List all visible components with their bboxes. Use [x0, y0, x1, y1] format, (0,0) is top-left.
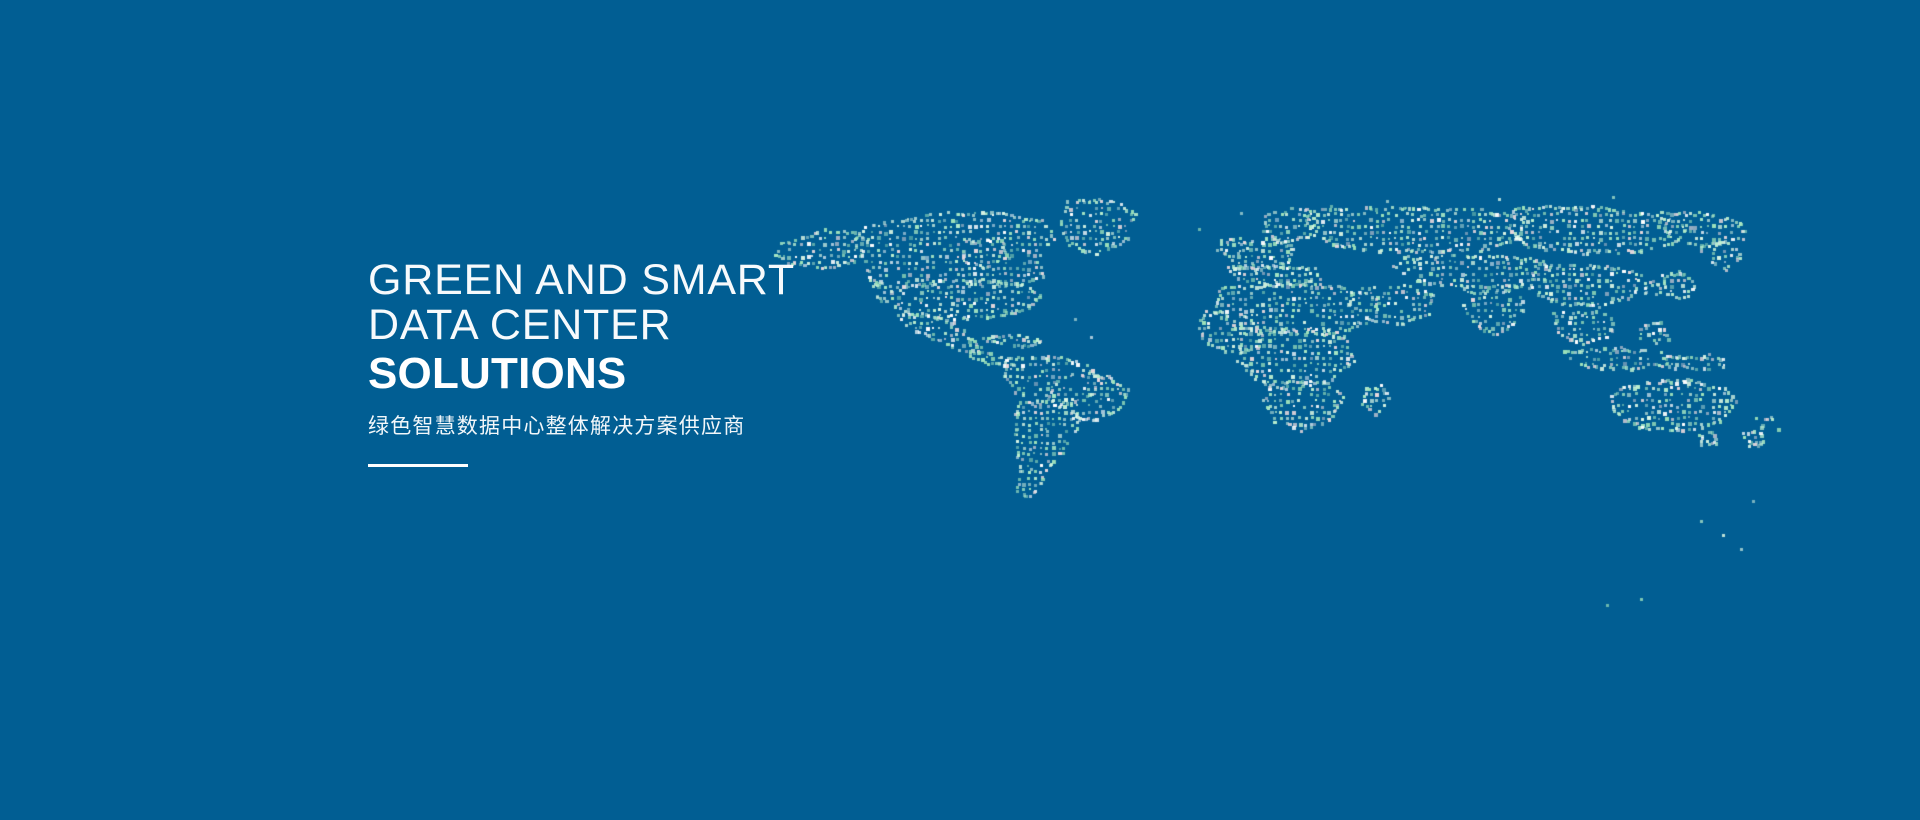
headline-line-1: GREEN AND SMART [368, 258, 1008, 303]
subtitle-chinese: 绿色智慧数据中心整体解决方案供应商 [368, 412, 1008, 440]
headline-line-3: SOLUTIONS [368, 348, 1008, 400]
headline-line-2: DATA CENTER [368, 303, 1008, 348]
headline-block: GREEN AND SMART DATA CENTER SOLUTIONS 绿色… [368, 258, 1008, 467]
divider-rule [368, 464, 468, 467]
hero-banner: GREEN AND SMART DATA CENTER SOLUTIONS 绿色… [0, 0, 1920, 820]
